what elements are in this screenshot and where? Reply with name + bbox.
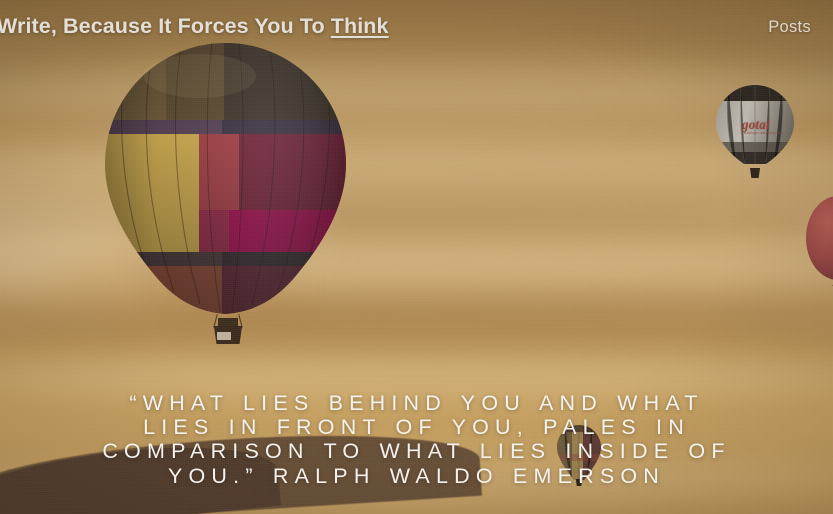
basket-rope xyxy=(238,314,242,328)
main-nav: Posts xyxy=(768,18,811,37)
hero-quote-container: “What lies behind you and what lies in f… xyxy=(0,391,833,488)
balloon-partial-right xyxy=(806,196,833,292)
nav-item-posts[interactable]: Posts xyxy=(768,18,811,37)
site-header: Write, Because It Forces You To Think Po… xyxy=(0,0,833,58)
balloon-logo-subtext: balloon adventures xyxy=(744,130,783,135)
balloon-secondary: gotai balloon adventures xyxy=(714,84,796,180)
hero-banner: gotai balloon adventures xyxy=(0,0,833,514)
balloon-envelope xyxy=(104,42,347,314)
site-title: Write, Because It Forces You To Think xyxy=(0,14,389,40)
site-title-prefix: Write, Because It Forces You To xyxy=(0,14,331,38)
balloon-main xyxy=(104,42,347,352)
hero-quote: “What lies behind you and what lies in f… xyxy=(88,391,745,488)
site-title-link-think[interactable]: Think xyxy=(331,14,389,38)
balloon-basket xyxy=(209,314,247,344)
balloon-basket-patch xyxy=(217,332,231,340)
